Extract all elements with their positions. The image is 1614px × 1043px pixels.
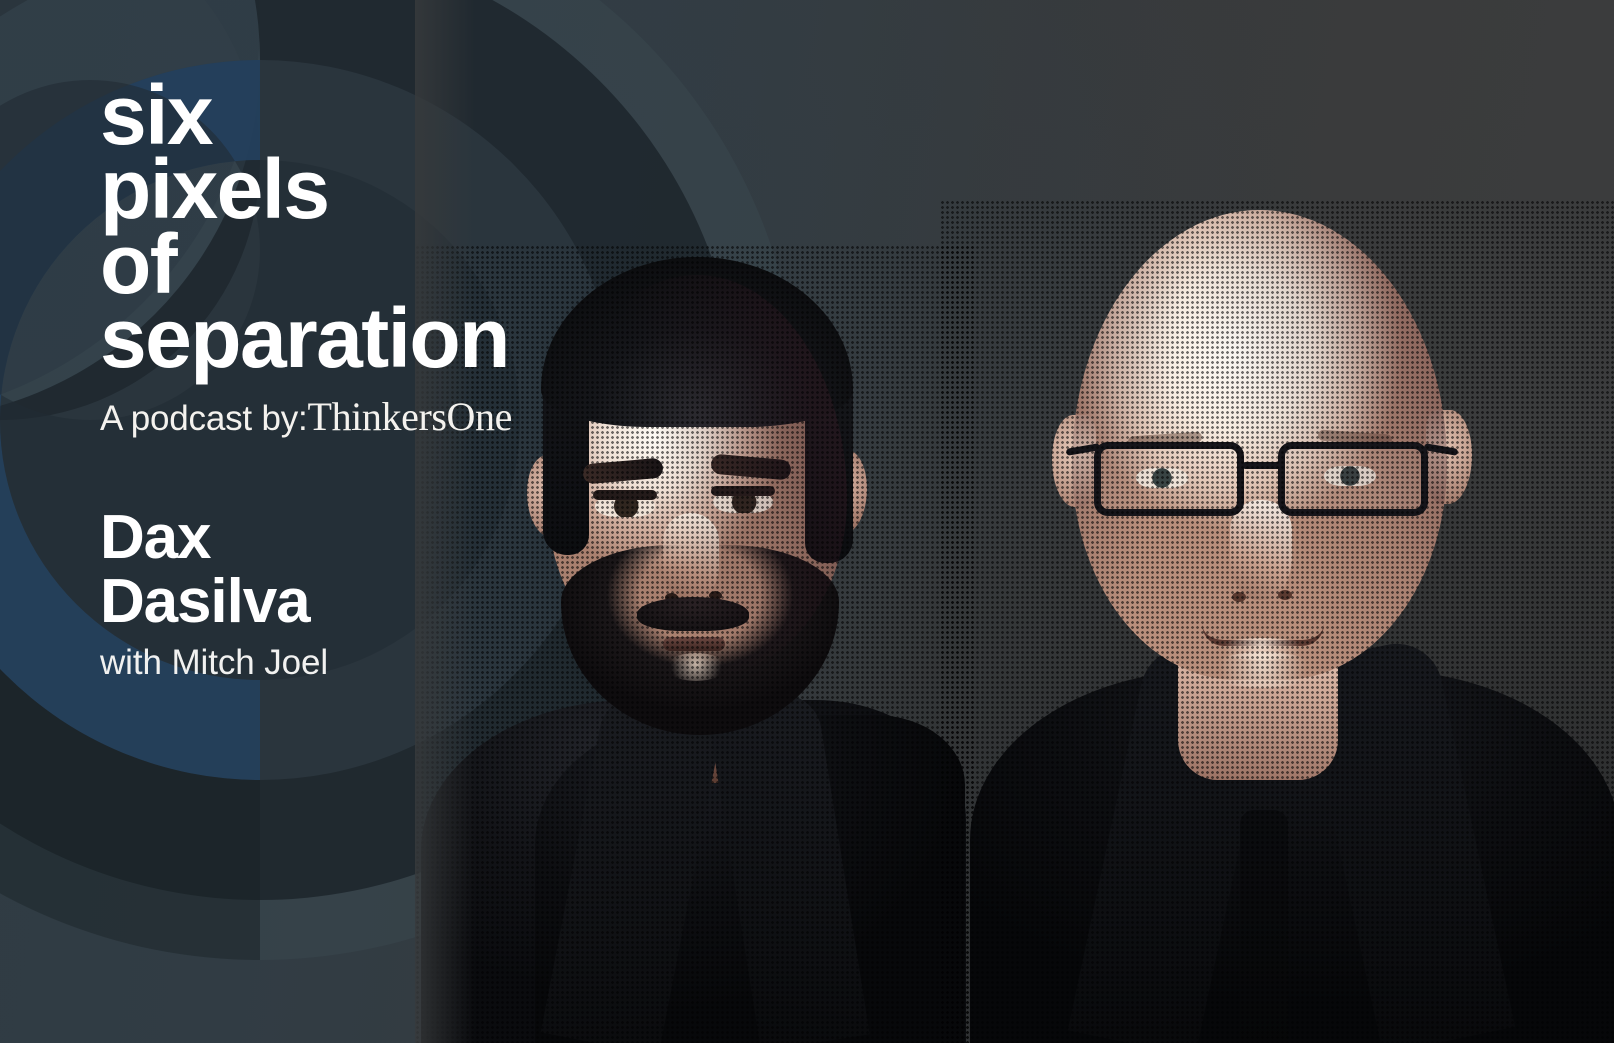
byline: A podcast by:ThinkersOne — [100, 393, 660, 440]
cover-text-block: six pixels of separation A podcast by:Th… — [100, 78, 660, 683]
eyeglasses — [1066, 430, 1456, 526]
byline-prefix: A podcast by: — [100, 399, 308, 438]
byline-brand-thinkersone: ThinkersOne — [308, 394, 512, 439]
photo-host-mitch-joel — [940, 200, 1614, 1043]
podcast-cover-art: six pixels of separation A podcast by:Th… — [0, 0, 1614, 1043]
episode-guest-block: Dax Dasilva with Mitch Joel — [100, 506, 660, 682]
host-credit: with Mitch Joel — [100, 643, 660, 683]
show-title: six pixels of separation — [100, 78, 660, 375]
guest-name: Dax Dasilva — [100, 506, 660, 632]
